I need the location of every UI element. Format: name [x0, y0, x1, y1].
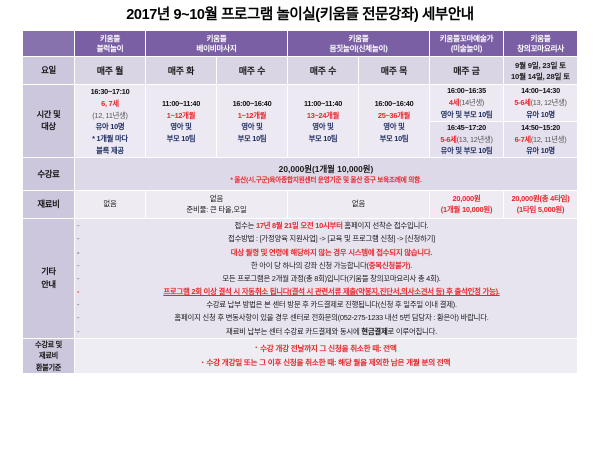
schedule-cell-body-thu: 16:00~16:40 25~36개월 영아 및 부모 10팀 [358, 85, 429, 158]
row-label-tuition-fee: 수강료 [22, 158, 74, 191]
note-item: 모든 프로그램은 2개월 과정(총 8회)입니다(키움뜰 창의꼬마요리사 총 4… [75, 272, 577, 285]
note-text-post: 홈페이지 선착순 접수입니다. [343, 221, 429, 230]
refund-label-line3: 환불기준 [23, 362, 74, 374]
note-item: 홈페이지 신청 후 변동사항이 있을 경우 센터로 전화문의(052-275-1… [75, 311, 577, 324]
note-text-pre: 접수는 [235, 221, 256, 230]
material-fee-line2: 준비물: 큰 타올,오일 [146, 205, 287, 216]
schedule-cell-body-wed: 11:00~11:40 13~24개월 영아 및 부모 10팀 [287, 85, 358, 158]
class-time: 14:50~15:20 [504, 122, 577, 134]
weekday-row: 요일 매주 월 매주 화 매주 수 매주 수 매주 목 매주 금 9월 9일, … [22, 57, 577, 85]
program-name-line2: 몸짓놀이(신체놀이) [288, 44, 429, 54]
schedule-cell-art-slot2: 16:45~17:20 5-6세(13, 12년생) 유아 및 부모 10팀 [430, 121, 504, 157]
material-fee-bodyplay: 없음 [287, 191, 429, 219]
note-text-emphasis: 현금결제 [361, 327, 387, 336]
program-name-line1: 키움뜰꼬마예술가 [430, 34, 503, 44]
class-age: 13~24개월 [288, 110, 358, 122]
refund-label-line1: 수강료 및 [23, 339, 74, 351]
header-program-babymassage: 키움뜰 베이비마사지 [145, 31, 287, 57]
program-name-line2: (미술놀이) [430, 44, 503, 54]
row-label-weekday: 요일 [22, 57, 74, 85]
cooking-date-line2: 10월 14일, 28일 토 [504, 71, 577, 82]
class-birthyear: (14년생) [459, 98, 484, 107]
page-title: 2017년 9~10월 프로그램 놀이실(키움뜰 전문강좌) 세부안내 [0, 0, 600, 30]
class-target-line2: 부모 10팀 [288, 133, 358, 145]
tuition-fee-cell: 20,000원(1개월 10,000원) * 울산(시,구군)육아종합지원센터 … [74, 158, 577, 191]
refund-label-line2: 재료비 [23, 350, 74, 362]
class-target: 유아 10명 [504, 145, 577, 157]
other-notes-label-line1: 기타 [23, 266, 74, 278]
weekday-art: 매주 금 [430, 57, 504, 85]
tuition-fee-amount: 20,000원(1개월 10,000원) [75, 163, 577, 176]
class-birthyear: (12, 11년생) [531, 135, 567, 144]
class-target: 영아 및 부모 10팀 [430, 109, 503, 121]
time-target-label-line2: 대상 [23, 121, 74, 133]
row-label-other-notes: 기타 안내 [22, 219, 74, 339]
schedule-cell-block: 16:30~17:10 6, 7세 (12, 11년생) 유아 10명 * 1개… [74, 85, 145, 158]
note-item: 대상 월령 및 연령에 해당하지 않는 경우 시스템에 접수되지 않습니다. [75, 246, 577, 259]
note-item: 한 아이 당 하나의 강좌 신청 가능합니다(중복신청불가). [75, 259, 577, 272]
header-corner-cell [22, 31, 74, 57]
note-text-pre: 한 아이 당 하나의 강좌 신청 가능합니다 [251, 261, 367, 270]
header-program-cooking: 키움뜰 창의꼬마요리사 [504, 31, 578, 57]
class-target-line2: 부모 10팀 [359, 133, 429, 145]
row-label-time-target: 시간 및 대상 [22, 85, 74, 158]
note-item-highlighted: 프로그램 2회 이상 결석 시 자동취소 됩니다(결석 시 관련서류 제출(약봉… [75, 285, 577, 298]
weekday-baby-tue: 매주 화 [145, 57, 216, 85]
refund-policy-cell: 수강 개강 전날까지 그 신청을 취소한 때: 전액 수강 개강일 또는 그 이… [74, 338, 577, 374]
cooking-date-line1: 9월 9일, 23일 토 [504, 60, 577, 71]
weekday-body-wed: 매주 수 [287, 57, 358, 85]
class-time: 16:30~17:10 [75, 86, 145, 98]
material-fee-line1: 없음 [146, 194, 287, 205]
material-fee-line1: 20,000원(총 4타임) [504, 194, 577, 205]
program-name-line1: 키움뜰 [288, 34, 429, 44]
tuition-fee-row: 수강료 20,000원(1개월 10,000원) * 울산(시,구군)육아종합지… [22, 158, 577, 191]
class-birthyear: (13, 12년생) [457, 135, 493, 144]
class-age-group: 5-6세(13, 12년생) [430, 134, 503, 146]
program-name-line1: 키움뜰 [504, 34, 577, 44]
program-name-line2: 블럭놀이 [75, 44, 145, 54]
material-fee-line2: (1개월 10,000원) [430, 205, 503, 216]
note-item: 접수는 17년 8월 21일 오전 10시부터 홈페이지 선착순 접수입니다. [75, 219, 577, 232]
class-time: 16:00~16:40 [217, 98, 287, 110]
tuition-fee-note: * 울산(시,구군)육아종합지원센터 운영기준 및 울산 중구 보육조례에 의함… [75, 176, 577, 186]
program-name-line1: 키움뜰 [146, 34, 287, 44]
other-notes-row: 기타 안내 접수는 17년 8월 21일 오전 10시부터 홈페이지 선착순 접… [22, 219, 577, 339]
class-age: 6-7세 [515, 135, 531, 144]
class-time: 11:00~11:40 [288, 98, 358, 110]
class-target: 유아 10명 [504, 109, 577, 121]
time-target-label-line1: 시간 및 [23, 109, 74, 121]
class-target-line1: 영아 및 [288, 121, 358, 133]
class-age: 5-6세 [514, 98, 530, 107]
class-age: 1~12개월 [146, 110, 216, 122]
schedule-cell-baby-tue: 11:00~11:40 1~12개월 영아 및 부모 10팀 [145, 85, 216, 158]
note-item: 접수방법 : [가정양육 지원사업] -> [교육 및 프로그램 신청] -> … [75, 232, 577, 245]
header-program-bodyplay: 키움뜰 몸짓놀이(신체놀이) [287, 31, 429, 57]
refund-policy-item: 수강 개강일 또는 그 이후 신청을 취소한 때: 해당 월을 제외한 남은 개… [75, 356, 577, 370]
class-birthyear: (13, 12년생) [531, 98, 567, 107]
class-age-group: 4세(14년생) [430, 97, 503, 109]
other-notes-list: 접수는 17년 8월 21일 오전 10시부터 홈페이지 선착순 접수입니다. … [75, 219, 577, 338]
schedule-table: 키움뜰 블럭놀이 키움뜰 베이비마사지 키움뜰 몸짓놀이(신체놀이) 키움뜰꼬마… [22, 30, 578, 374]
class-target-line1: 영아 및 [217, 121, 287, 133]
class-time: 16:00~16:35 [430, 85, 503, 97]
material-fee-line1: 20,000원 [430, 194, 503, 205]
table-header-row: 키움뜰 블럭놀이 키움뜰 베이비마사지 키움뜰 몸짓놀이(신체놀이) 키움뜰꼬마… [22, 31, 577, 57]
program-name-line1: 키움뜰 [75, 34, 145, 44]
class-age: 25~36개월 [359, 110, 429, 122]
class-age-group: 6-7세(12, 11년생) [504, 134, 577, 146]
row-label-refund-policy: 수강료 및 재료비 환불기준 [22, 338, 74, 374]
material-fee-babymassage: 없음 준비물: 큰 타올,오일 [145, 191, 287, 219]
class-capacity: 유아 10명 [75, 121, 145, 133]
other-notes-label-line2: 안내 [23, 279, 74, 291]
note-text-post: . [410, 261, 412, 270]
material-fee-art: 20,000원 (1개월 10,000원) [430, 191, 504, 219]
class-age-group: 5-6세(13, 12년생) [504, 97, 577, 109]
schedule-cell-cooking-slot2: 14:50~15:20 6-7세(12, 11년생) 유아 10명 [504, 121, 578, 157]
class-target-line2: 부모 10팀 [146, 133, 216, 145]
class-note-line2: 블록 제공 [75, 145, 145, 157]
header-program-block: 키움뜰 블럭놀이 [74, 31, 145, 57]
program-name-line2: 베이비마사지 [146, 44, 287, 54]
weekday-cooking: 9월 9일, 23일 토 10월 14일, 28일 토 [504, 57, 578, 85]
class-note-line1: * 1개월 마다 [75, 133, 145, 145]
class-time: 14:00~14:30 [504, 85, 577, 97]
class-target: 유아 및 부모 10팀 [430, 145, 503, 157]
refund-policy-item: 수강 개강 전날까지 그 신청을 취소한 때: 전액 [75, 342, 577, 356]
weekday-baby-wed: 매주 수 [216, 57, 287, 85]
other-notes-cell: 접수는 17년 8월 21일 오전 10시부터 홈페이지 선착순 접수입니다. … [74, 219, 577, 339]
program-name-line2: 창의꼬마요리사 [504, 44, 577, 54]
class-time: 16:45~17:20 [430, 122, 503, 134]
material-fee-block: 없음 [74, 191, 145, 219]
class-target-line2: 부모 10팀 [217, 133, 287, 145]
class-target-line1: 영아 및 [359, 121, 429, 133]
schedule-cell-baby-wed: 16:00~16:40 1~12개월 영아 및 부모 10팀 [216, 85, 287, 158]
program-schedule-page: 2017년 9~10월 프로그램 놀이실(키움뜰 전문강좌) 세부안내 키움뜰 … [0, 0, 600, 450]
class-target-line1: 영아 및 [146, 121, 216, 133]
material-fee-line2: (1타임 5,000원) [504, 205, 577, 216]
note-text-emphasis: (중복신청불가) [367, 261, 411, 270]
weekday-body-thu: 매주 목 [358, 57, 429, 85]
note-item: 재료비 납부는 센터 수강료 카드결제와 동시에 현금결제로 이루어집니다. [75, 325, 577, 338]
schedule-cell-cooking-slot1: 14:00~14:30 5-6세(13, 12년생) 유아 10명 [504, 85, 578, 121]
material-fee-row: 재료비 없음 없음 준비물: 큰 타올,오일 없음 20,000원 (1개월 1… [22, 191, 577, 219]
header-program-art: 키움뜰꼬마예술가 (미술놀이) [430, 31, 504, 57]
note-text-emphasis: 17년 8월 21일 오전 10시부터 [256, 221, 343, 230]
class-age: 6, 7세 [75, 98, 145, 110]
schedule-cell-art-slot1: 16:00~16:35 4세(14년생) 영아 및 부모 10팀 [430, 85, 504, 121]
weekday-block: 매주 월 [74, 57, 145, 85]
note-text-post: 로 이루어집니다. [388, 327, 437, 336]
note-item: 수강료 납부 방법은 본 센터 방문 후 카드결제로 진행됩니다(신청 후 일주… [75, 298, 577, 311]
time-target-row-slot1: 시간 및 대상 16:30~17:10 6, 7세 (12, 11년생) 유아 … [22, 85, 577, 121]
class-time: 11:00~11:40 [146, 98, 216, 110]
class-age: 5-6세 [440, 135, 456, 144]
class-age: 1~12개월 [217, 110, 287, 122]
class-age: 4세 [449, 98, 459, 107]
class-birthyear: (12, 11년생) [75, 110, 145, 122]
note-text-pre: 재료비 납부는 센터 수강료 카드결제와 동시에 [226, 327, 361, 336]
material-fee-cooking: 20,000원(총 4타임) (1타임 5,000원) [504, 191, 578, 219]
class-time: 16:00~16:40 [359, 98, 429, 110]
row-label-material-fee: 재료비 [22, 191, 74, 219]
refund-policy-row: 수강료 및 재료비 환불기준 수강 개강 전날까지 그 신청을 취소한 때: 전… [22, 338, 577, 374]
